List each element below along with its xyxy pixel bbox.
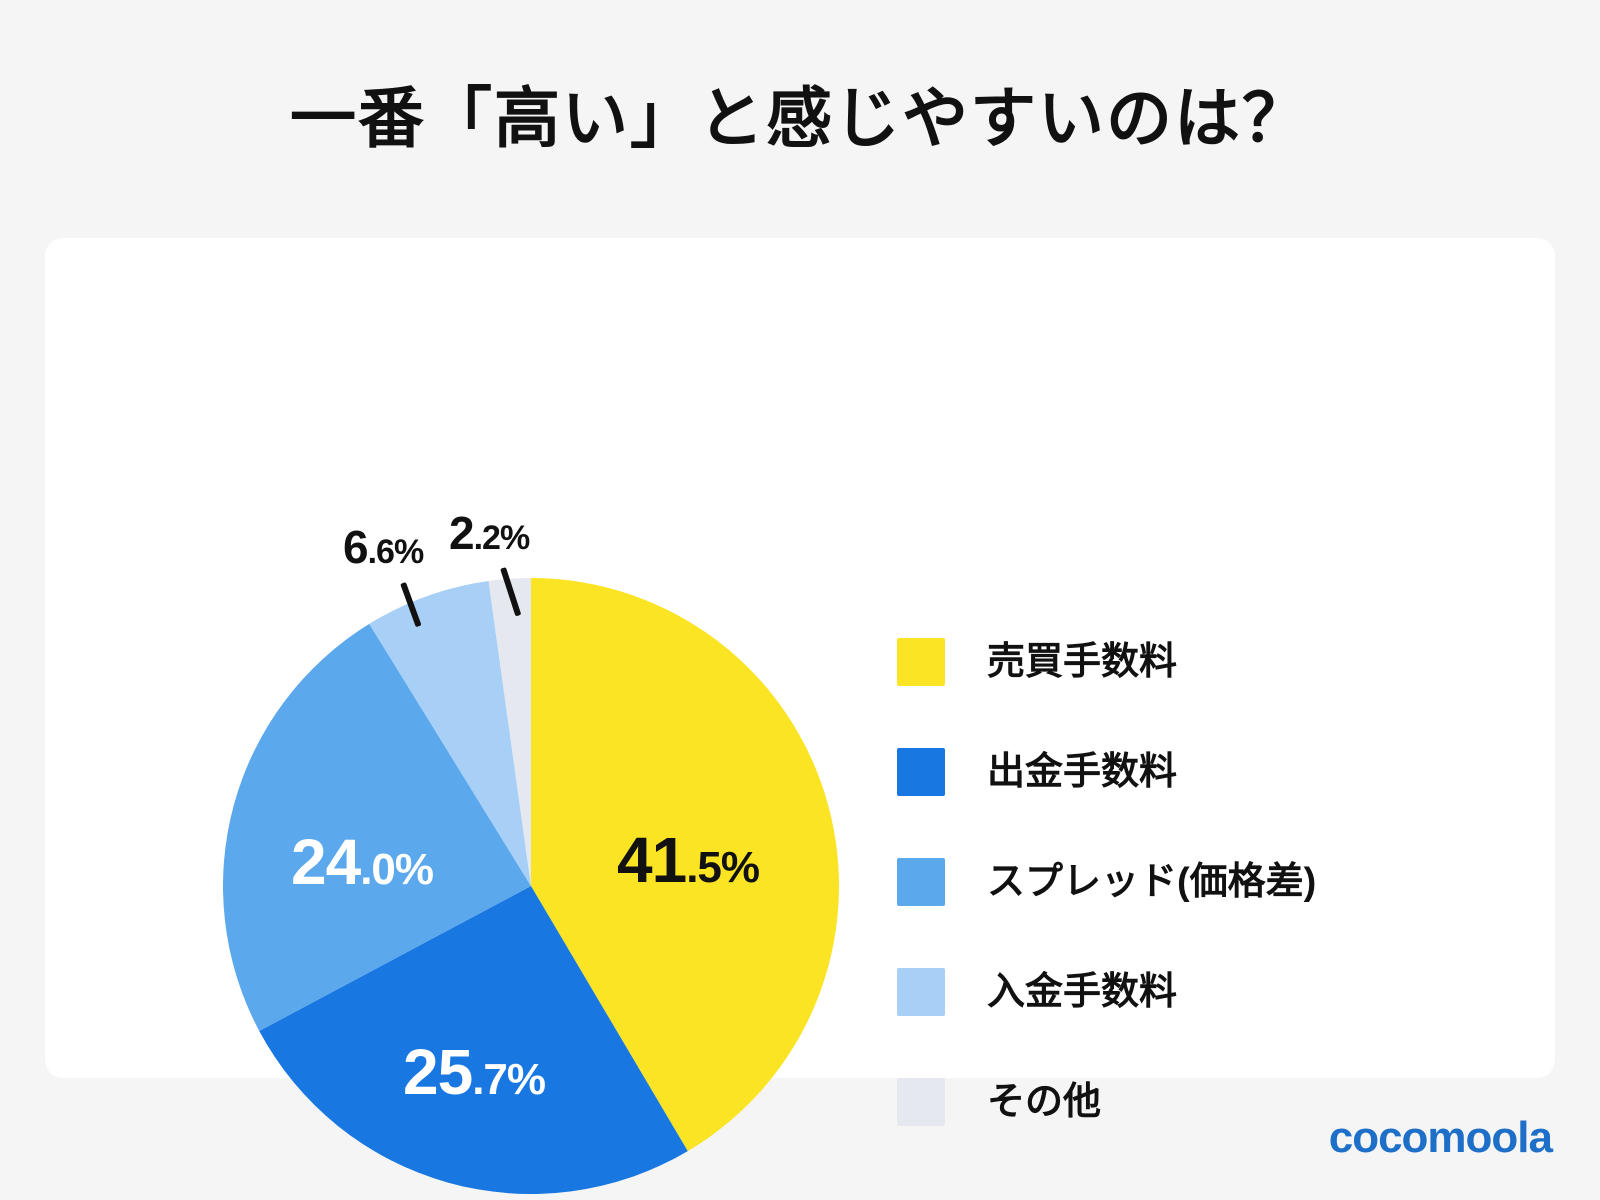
legend-item-スプレッド[interactable]: スプレッド(価格差) [897, 858, 1457, 906]
slice-callout-label-入金手数料: 6.6% [343, 524, 423, 570]
legend-item-label: 売買手数料 [987, 643, 1177, 681]
slice-callout-label-その他: 2.2% [449, 510, 529, 556]
brand-logo: cocomoola [1329, 1116, 1552, 1160]
legend-swatch-icon [897, 1078, 945, 1126]
page-title: 一番「高い」と感じやすいのは？ [0, 82, 1600, 155]
legend-item-label: スプレッド(価格差) [987, 863, 1316, 901]
slice-value-int: 25 [403, 1036, 472, 1108]
chart-legend: 売買手数料 出金手数料 スプレッド(価格差) 入金手数料 その他 [897, 638, 1457, 1126]
callout-value-dec: .6% [368, 533, 424, 571]
legend-item-入金手数料[interactable]: 入金手数料 [897, 968, 1457, 1016]
legend-item-label: 出金手数料 [987, 753, 1177, 791]
callout-value-int: 2 [449, 507, 474, 559]
legend-item-出金手数料[interactable]: 出金手数料 [897, 748, 1457, 796]
legend-swatch-icon [897, 748, 945, 796]
legend-swatch-icon [897, 968, 945, 1016]
legend-item-label: 入金手数料 [987, 973, 1177, 1011]
callout-value-dec: .2% [474, 519, 530, 557]
slice-value-int: 24 [291, 826, 360, 898]
slide-canvas: 一番「高い」と感じやすいのは？ 41.5% 25.7% 24.0% [0, 0, 1600, 1200]
slice-value-label-出金手数料: 25.7% [403, 1040, 545, 1104]
slice-value-label-売買手数料: 41.5% [617, 828, 759, 892]
legend-item-売買手数料[interactable]: 売買手数料 [897, 638, 1457, 686]
legend-item-label: その他 [987, 1083, 1101, 1121]
legend-swatch-icon [897, 638, 945, 686]
legend-swatch-icon [897, 858, 945, 906]
slice-value-dec: .0% [360, 845, 433, 894]
slice-value-dec: .5% [686, 843, 759, 892]
callout-value-int: 6 [343, 521, 368, 573]
slice-value-int: 41 [617, 824, 686, 896]
slice-value-label-スプレッド: 24.0% [291, 830, 433, 894]
chart-card: 41.5% 25.7% 24.0% 6.6% 2.2% 売買手数料 出金手数料 [45, 238, 1555, 1078]
slice-value-dec: .7% [472, 1055, 545, 1104]
